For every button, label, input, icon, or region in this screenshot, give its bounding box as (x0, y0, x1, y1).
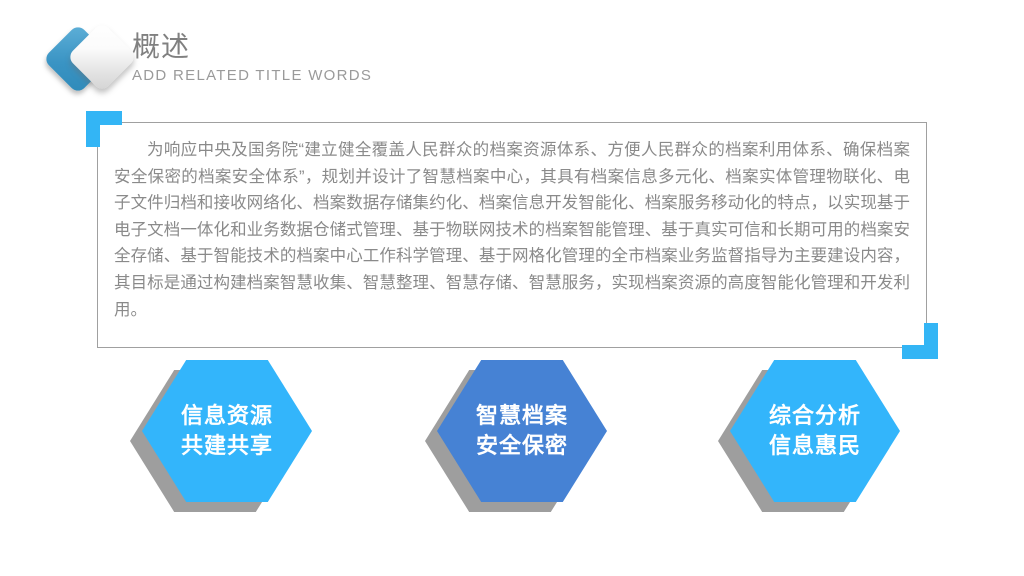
hexagon-row: 信息资源 共建共享 智慧档案 安全保密 综合分析 信息惠民 (0, 360, 1024, 520)
logo-mark (48, 22, 144, 98)
page-subtitle: ADD RELATED TITLE WORDS (132, 67, 372, 85)
page-title: 概述 (132, 30, 372, 64)
body-text-frame: 为响应中央及国务院“建立健全覆盖人民群众的档案资源体系、方便人民群众的档案利用体… (97, 122, 927, 348)
body-paragraph: 为响应中央及国务院“建立健全覆盖人民群众的档案资源体系、方便人民群众的档案利用体… (114, 137, 910, 323)
hexagon-card-3[interactable]: 综合分析 信息惠民 (718, 360, 898, 510)
hexagon-card-2[interactable]: 智慧档案 安全保密 (425, 360, 605, 510)
slide-canvas: 概述 ADD RELATED TITLE WORDS 为响应中央及国务院“建立健… (0, 0, 1024, 576)
corner-bracket-bottom-right (902, 323, 938, 359)
hexagon-card-1[interactable]: 信息资源 共建共享 (130, 360, 310, 510)
slide-header: 概述 ADD RELATED TITLE WORDS (48, 18, 608, 98)
title-group: 概述 ADD RELATED TITLE WORDS (132, 30, 372, 85)
